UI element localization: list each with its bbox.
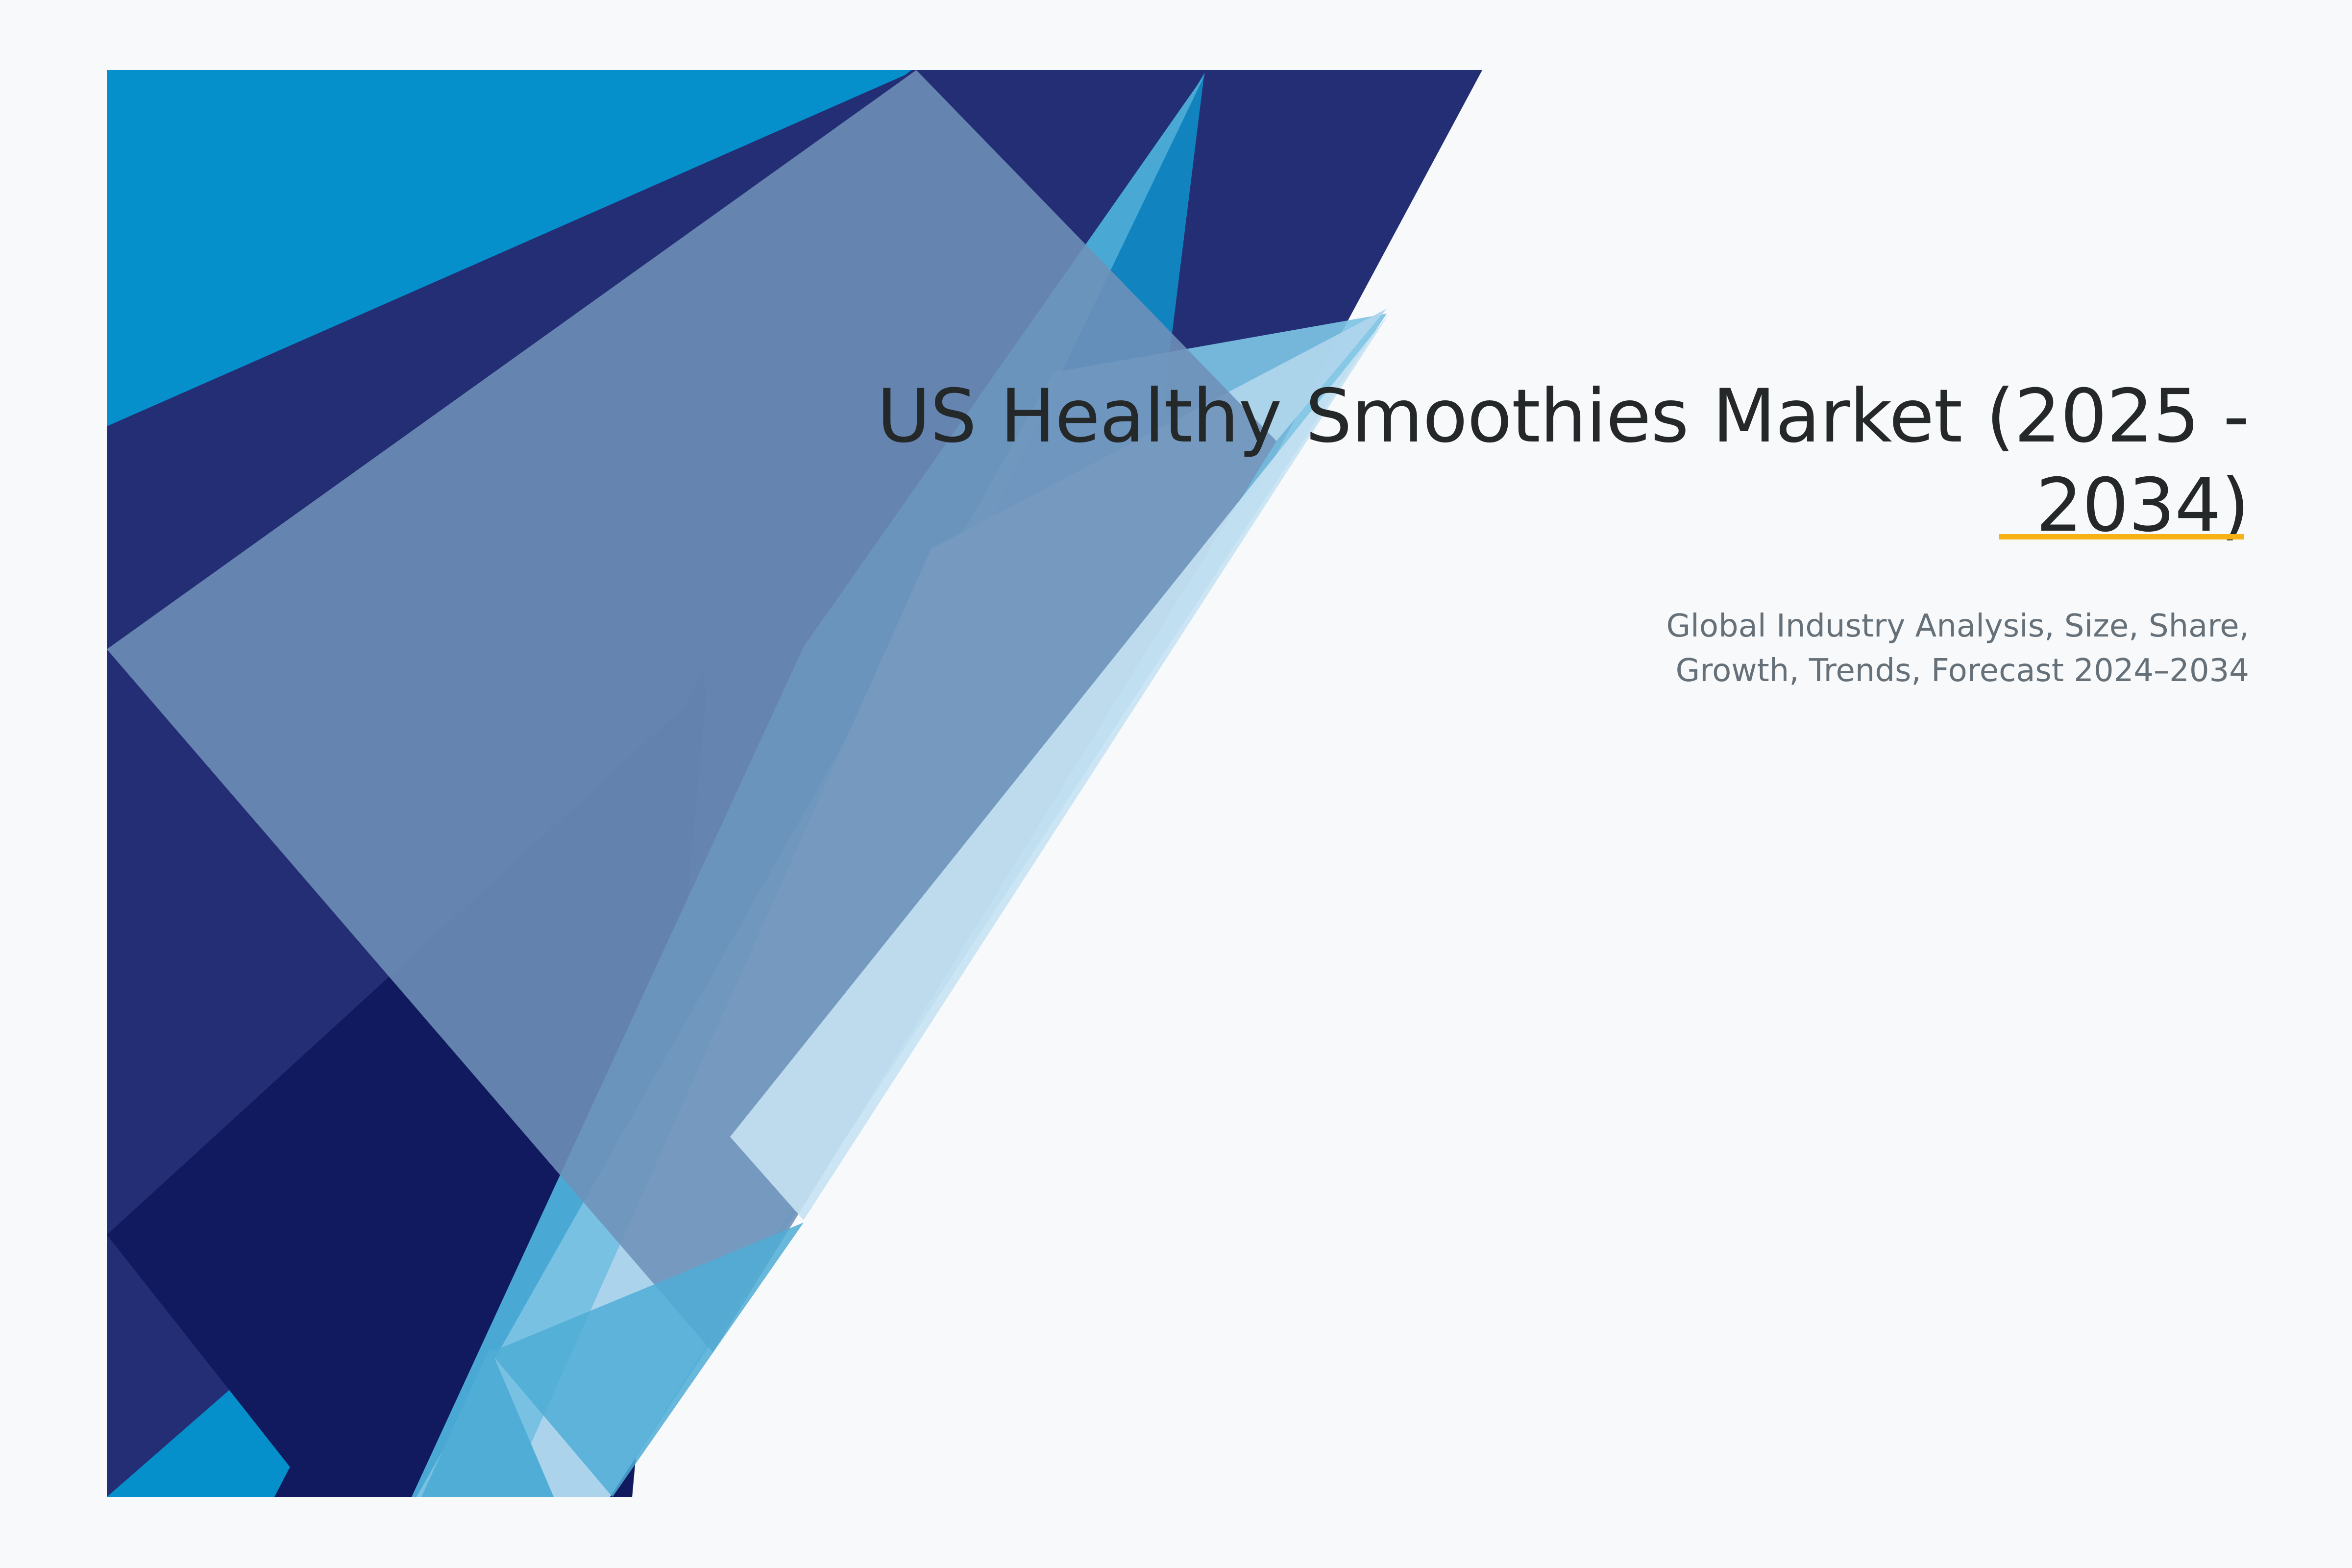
title-text-block: US Healthy Smoothies Market (2025 - 2034… bbox=[833, 372, 2249, 693]
abstract-geometric-artwork bbox=[0, 0, 2352, 1568]
title-slide: US Healthy Smoothies Market (2025 - 2034… bbox=[0, 0, 2352, 1568]
page-title: US Healthy Smoothies Market (2025 - 2034… bbox=[833, 372, 2249, 550]
title-wrapper: US Healthy Smoothies Market (2025 - 2034… bbox=[833, 372, 2249, 550]
page-subtitle: Global Industry Analysis, Size, Share, G… bbox=[1637, 550, 2249, 693]
title-accent-underline bbox=[1999, 534, 2244, 539]
